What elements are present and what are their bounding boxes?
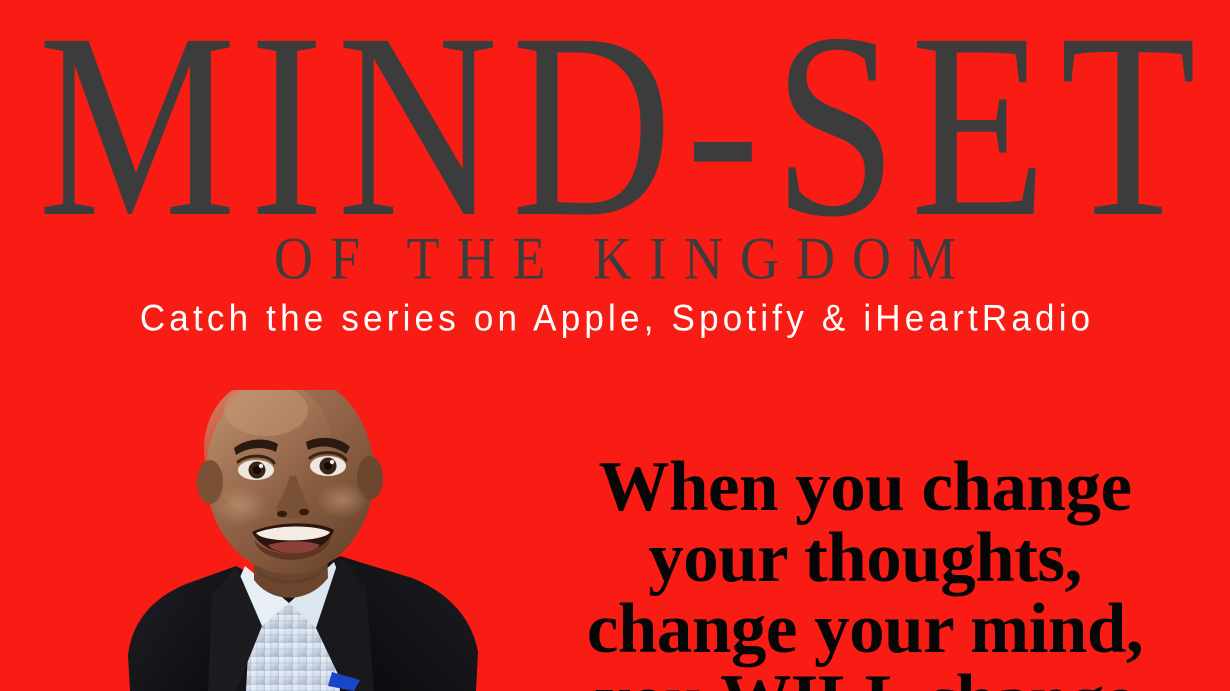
page-title: MIND-SET (25, 0, 1206, 258)
quote-text: When you change your thoughts, change yo… (500, 452, 1230, 691)
quote-line-1: When you change (500, 452, 1230, 523)
nostril-left (277, 511, 287, 517)
eye-glint-right (330, 460, 334, 464)
quote-line-2: your thoughts, (500, 523, 1230, 594)
nostril-right (299, 509, 309, 515)
cheek-left (212, 486, 268, 526)
platforms-tagline: Catch the series on Apple, Spotify & iHe… (0, 300, 1230, 337)
quote-line-4: you WILL change (500, 665, 1230, 691)
speaker-portrait (40, 390, 510, 691)
poster-canvas: MIND-SET OF THE KINGDOM Catch the series… (0, 0, 1230, 691)
eye-glint-left (259, 464, 263, 468)
cheek-right (316, 482, 368, 518)
portrait-illustration (40, 390, 510, 691)
page-subtitle: OF THE KINGDOM (0, 228, 1230, 288)
quote-line-3: change your mind, (500, 594, 1230, 665)
